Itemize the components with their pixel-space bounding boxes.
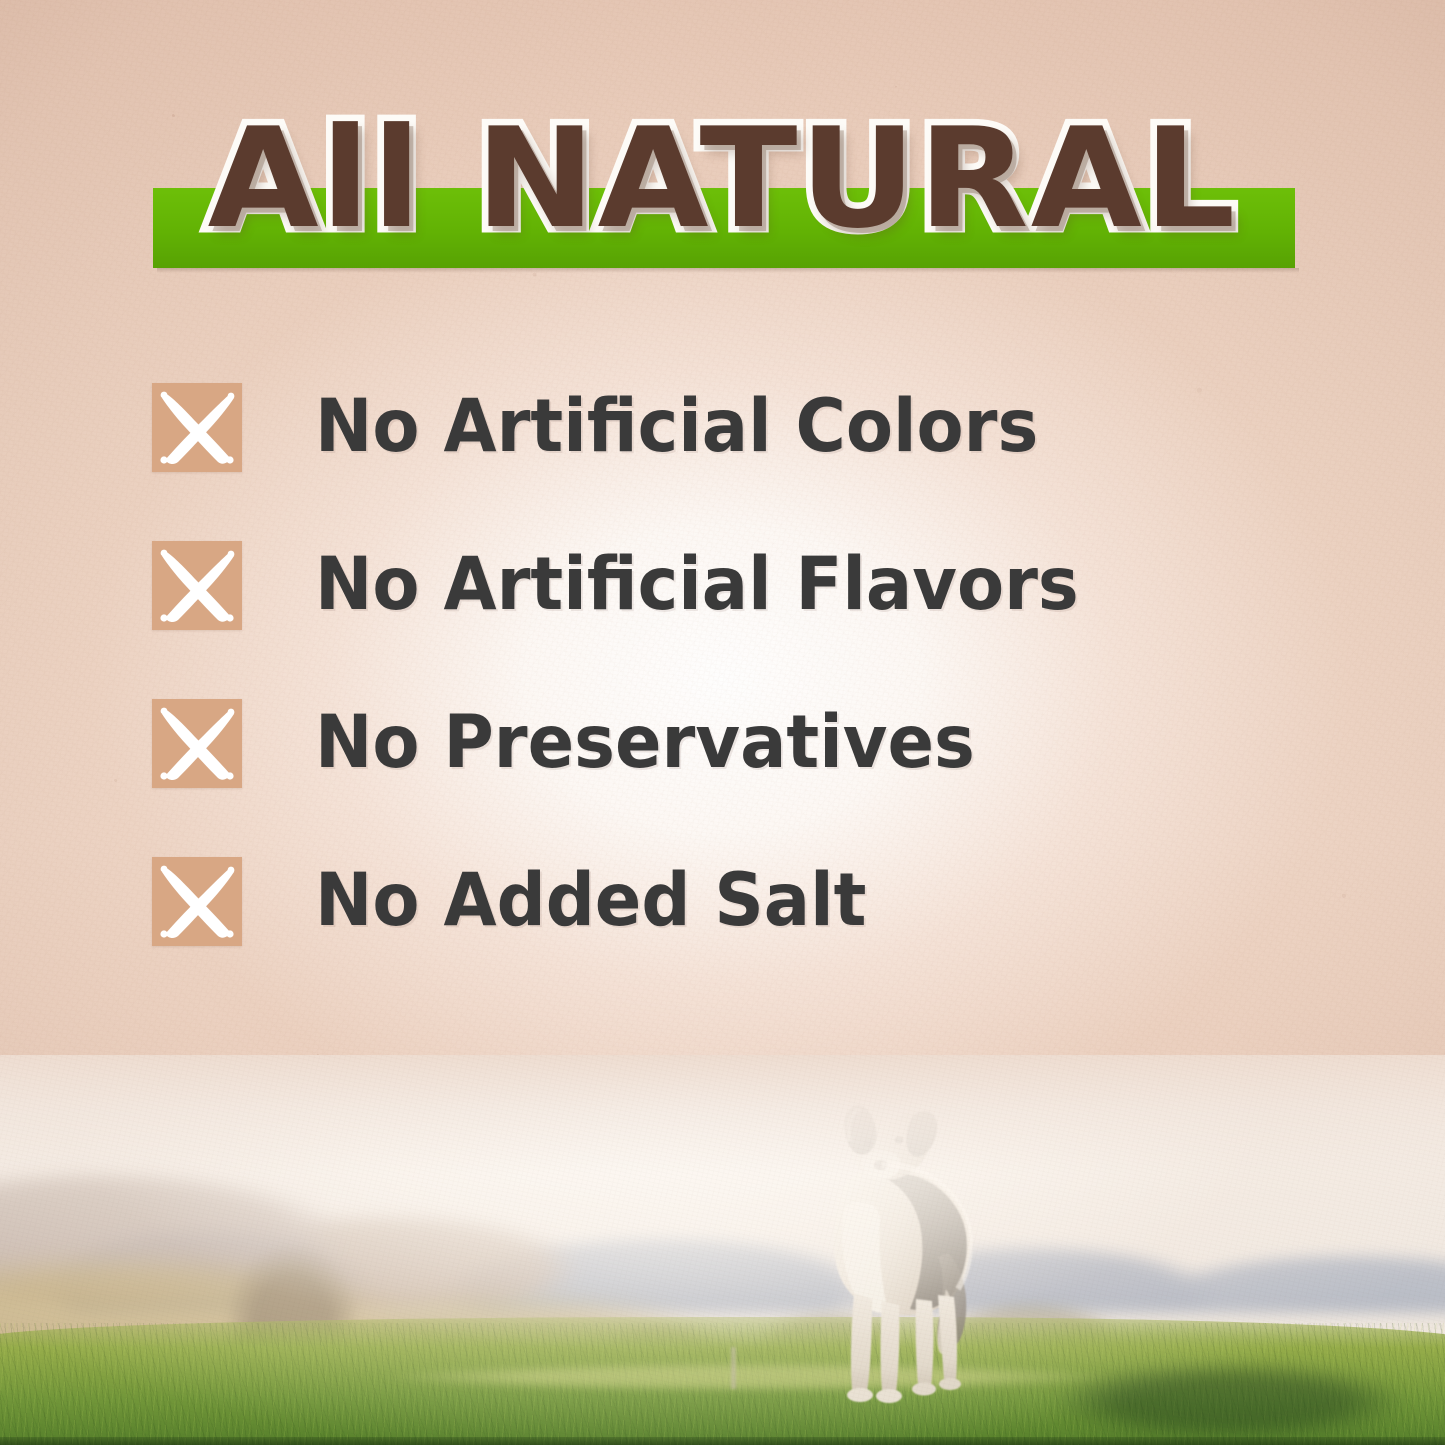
list-item-label: No Preservatives — [315, 699, 975, 787]
x-mark-icon — [152, 857, 242, 946]
x-mark-icon — [152, 383, 242, 472]
list-item: No Added Salt — [152, 857, 1352, 945]
all-natural-poster: All NATURAL No Artificial Colors — [0, 0, 1445, 1445]
x-mark-icon — [152, 541, 242, 630]
list-item-label: No Artificial Colors — [315, 383, 1038, 471]
list-item: No Artificial Colors — [152, 383, 1352, 471]
ground-shadow — [1020, 1355, 1440, 1445]
list-item-label: No Artificial Flavors — [315, 541, 1079, 629]
list-item: No Preservatives — [152, 699, 1352, 787]
list-item: No Artificial Flavors — [152, 541, 1352, 629]
landscape-photo — [0, 1055, 1445, 1445]
page-title: All NATURAL — [0, 104, 1445, 254]
headline-banner-shadow — [157, 268, 1299, 273]
dog-photo — [778, 1093, 1028, 1433]
fence-post — [731, 1347, 736, 1389]
feature-list: No Artificial Colors No Artificial Flavo… — [152, 383, 1352, 1015]
x-mark-icon — [152, 699, 242, 788]
list-item-label: No Added Salt — [315, 857, 866, 945]
